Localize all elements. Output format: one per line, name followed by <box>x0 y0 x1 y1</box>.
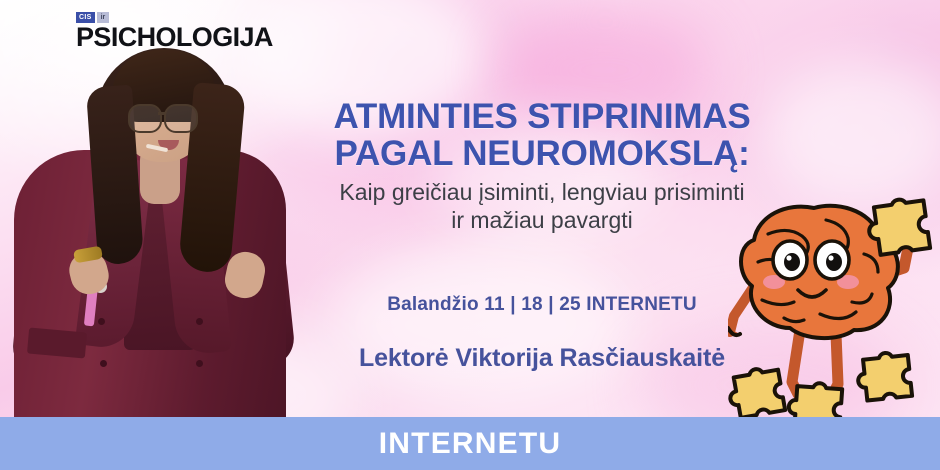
presenter-button <box>196 360 203 367</box>
poster-title: ATMINTIES STIPRINIMAS PAGAL NEUROMOKSLĄ: <box>262 98 822 172</box>
puzzle-piece-ground-left <box>728 365 785 419</box>
presenter-glasses-bridge <box>158 112 166 115</box>
event-dateline: Balandžio 11 | 18 | 25 INTERNETU <box>252 294 832 316</box>
poster-subtitle-line-1: Kaip greičiau įsiminti, lengviau prisimi… <box>252 178 832 206</box>
bottom-banner-label: INTERNETU <box>379 427 561 461</box>
background-cloud <box>330 250 630 400</box>
puzzle-piece-ground-right <box>856 351 912 402</box>
poster-subtitle-line-2: ir mažiau pavargti <box>252 206 832 234</box>
presenter-pocket <box>27 328 87 359</box>
puzzle-piece-ground-center <box>787 381 842 420</box>
poster-title-line-1: ATMINTIES STIPRINIMAS <box>262 98 822 135</box>
presenter-button <box>100 360 107 367</box>
presenter-glasses-left <box>128 104 162 133</box>
poster-title-line-2: PAGAL NEUROMOKSLĄ: <box>262 135 822 172</box>
webinar-promo-poster: CIS ir PSICHOLOGIJA ATMINTIES STIPRINIMA… <box>0 0 940 470</box>
bottom-banner: INTERNETU <box>0 417 940 470</box>
presenter-glasses-right <box>164 104 198 133</box>
presenter-button <box>196 318 203 325</box>
logo-wordmark: PSICHOLOGIJA <box>76 24 273 51</box>
poster-subtitle: Kaip greičiau įsiminti, lengviau prisimi… <box>252 178 832 234</box>
presenter-button <box>98 318 105 325</box>
lecturer-name: Lektorė Viktorija Rasčiauskaitė <box>252 344 832 373</box>
brand-logo[interactable]: CIS ir PSICHOLOGIJA <box>76 12 273 51</box>
